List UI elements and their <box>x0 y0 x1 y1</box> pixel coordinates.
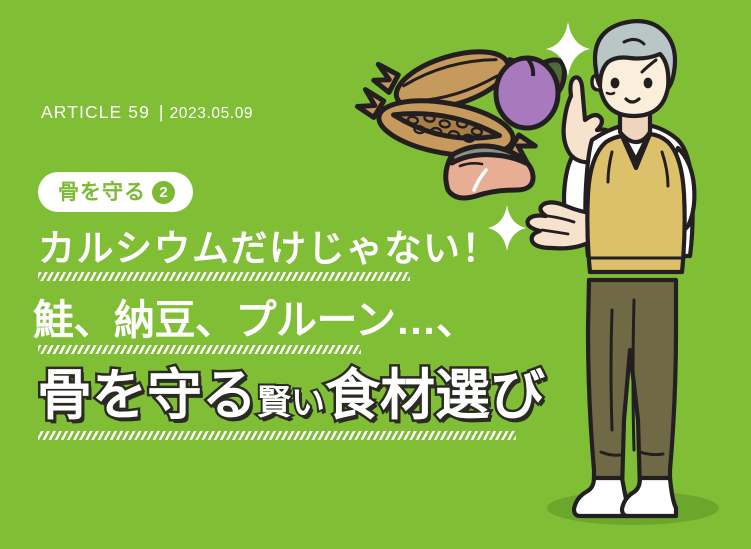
prune-plum-icon <box>496 56 569 128</box>
article-meta: ARTICLE 59|2023.05.09 <box>41 102 253 123</box>
headline-line-2: 鮭、納豆、プルーン…、 <box>33 300 476 341</box>
elderly-person-character <box>528 21 695 516</box>
headline-line-1: カルシウムだけじゃない！ <box>38 230 500 267</box>
striped-rule-1 <box>38 272 410 281</box>
headline-line-3: 骨を守る賢い食材選び <box>37 368 545 423</box>
sparkle-top-icon <box>546 22 590 76</box>
striped-rule-3 <box>38 431 516 440</box>
headline-line-3-small: 賢い <box>257 384 325 422</box>
article-label: ARTICLE 59 <box>41 102 150 122</box>
article-banner: ARTICLE 59|2023.05.09 骨を守る 2 カルシウムだけじゃない… <box>0 0 751 549</box>
meta-separator: | <box>159 102 165 123</box>
salmon-fillet-icon <box>446 146 533 198</box>
category-badge[interactable]: 骨を守る 2 <box>38 172 193 212</box>
striped-rule-2 <box>38 345 361 354</box>
headline-line-3-part-b: 食材選び <box>325 364 545 426</box>
headline-line-3-part-a: 骨を守る <box>37 364 257 426</box>
natto-straw-bundle-icon <box>352 22 540 168</box>
ground-shadow <box>547 491 719 525</box>
category-badge-label: 骨を守る <box>58 182 146 203</box>
category-badge-number: 2 <box>152 181 175 204</box>
article-date: 2023.05.09 <box>170 105 254 122</box>
